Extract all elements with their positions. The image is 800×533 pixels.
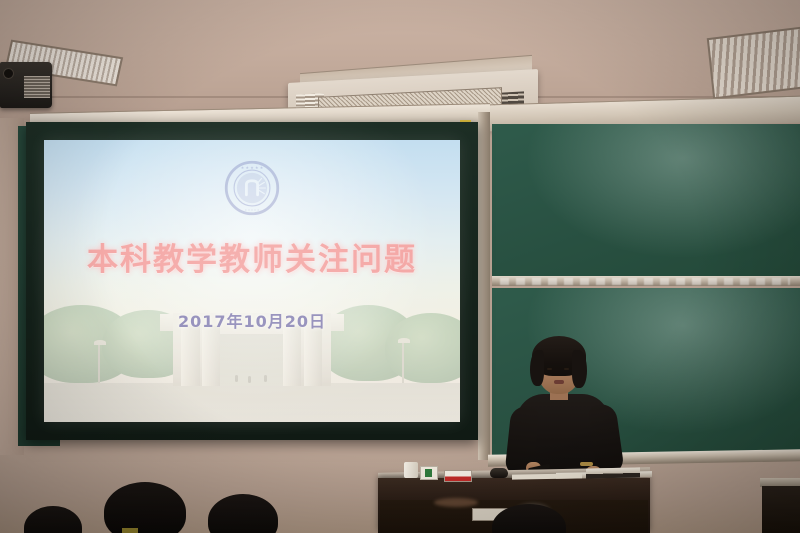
presenter-hair-right — [572, 350, 587, 388]
paper-cup — [404, 462, 418, 478]
audience-head — [104, 482, 186, 533]
chalk-residue — [500, 278, 790, 285]
lecture-hall-scene: ★ ★ ★ ★ ★ • • • • • 本科教学教师关注问题 2017年10月2… — [0, 0, 800, 533]
slide-date: 2017年10月20日 — [44, 308, 460, 332]
university-seal-emblem-icon: ★ ★ ★ ★ ★ • • • • • — [224, 160, 280, 216]
red-white-package — [444, 470, 472, 482]
bracelet-icon — [580, 462, 593, 466]
projector-vent — [24, 76, 50, 98]
computer-mouse[interactable] — [490, 468, 508, 478]
right-cabinet — [762, 486, 800, 533]
ceiling-projector — [0, 62, 52, 108]
green-marked-box — [420, 466, 438, 480]
projection-screen-surface[interactable]: ★ ★ ★ ★ ★ • • • • • 本科教学教师关注问题 2017年10月2… — [44, 140, 460, 422]
recessed-ceiling-light-panel-icon — [707, 27, 800, 100]
podium-scuff — [434, 498, 478, 507]
presenter-mouth — [554, 380, 564, 384]
svg-text:★ ★ ★ ★ ★: ★ ★ ★ ★ ★ — [241, 165, 264, 170]
audience-collar — [122, 528, 138, 533]
presenter-hair-left — [530, 350, 544, 386]
svg-text:• • • • •: • • • • • — [245, 209, 259, 213]
chalkboard-upper-right — [492, 124, 800, 280]
presenter-eye-left — [547, 368, 552, 370]
presenter-eye-right — [564, 368, 569, 370]
slide-title: 本科教学教师关注问题 — [44, 234, 460, 279]
projector-lens-icon — [3, 68, 14, 79]
board-vertical-rail — [478, 112, 490, 460]
stacked-book — [586, 467, 640, 478]
